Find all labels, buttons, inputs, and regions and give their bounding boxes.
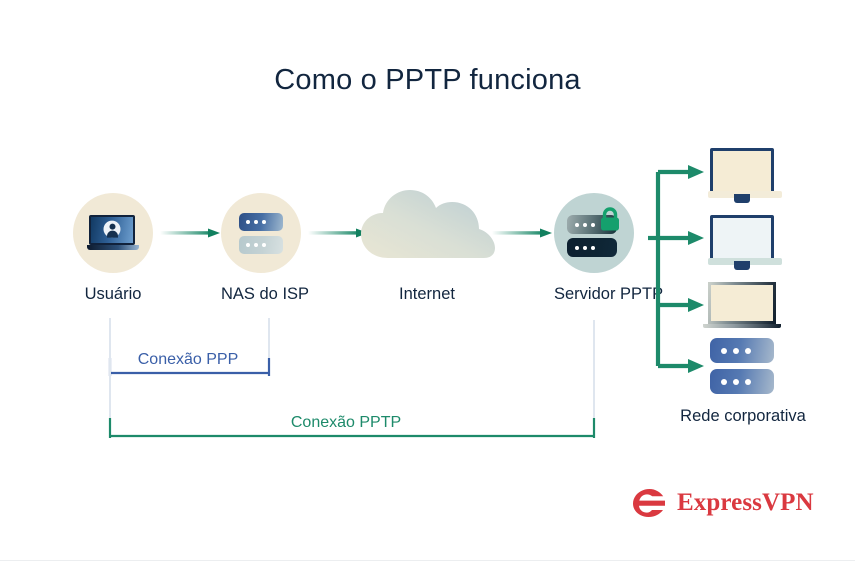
avatar-head xyxy=(109,224,115,230)
expressvpn-wordmark: ExpressVPN xyxy=(677,489,814,517)
secure-server-icon xyxy=(567,215,617,259)
monitor-stand xyxy=(734,261,750,270)
server-bar-top xyxy=(710,338,774,363)
flow-node-label-user: Usuário xyxy=(73,285,153,304)
server-bar-bottom xyxy=(567,238,617,257)
arrow-right-icon-1 xyxy=(160,228,222,238)
server-led-dots xyxy=(721,348,751,354)
laptop-user-icon xyxy=(87,215,139,253)
server-bar-bottom xyxy=(239,236,283,254)
pptp-connection-bracket xyxy=(104,320,600,442)
server-led-dots xyxy=(575,223,595,227)
monitor-icon xyxy=(710,215,774,262)
laptop-icon xyxy=(708,282,776,328)
corporate-network-label: Rede corporativa xyxy=(630,407,855,426)
flow-node-user: Usuário xyxy=(73,193,153,304)
flow-node-label-nas: NAS do ISP xyxy=(221,285,301,304)
flow-node-nas: NAS do ISP xyxy=(221,193,301,304)
server-led-dots xyxy=(721,379,751,385)
flow-node-label-pptp-server: Servidor PPTP xyxy=(554,285,634,304)
server-bar-top xyxy=(239,213,283,231)
device-monitor-2 xyxy=(710,215,774,262)
flow-node-pptp-server: Servidor PPTP xyxy=(554,193,634,304)
device-laptop-1 xyxy=(708,282,776,328)
server-led-dots xyxy=(575,246,595,250)
server-icon xyxy=(710,338,774,394)
laptop-base xyxy=(703,324,781,328)
laptop-screen xyxy=(708,282,776,324)
device-server-1 xyxy=(710,338,774,394)
server-led-dots xyxy=(246,220,266,224)
lock-icon xyxy=(599,207,621,233)
avatar-body xyxy=(107,230,118,237)
laptop-base xyxy=(87,245,139,250)
avatar xyxy=(104,221,121,238)
nas-circle-background xyxy=(221,193,301,273)
arrow-right-icon-3 xyxy=(492,228,554,238)
server-icon xyxy=(239,213,283,255)
server-led-dots xyxy=(246,243,266,247)
monitor-icon xyxy=(710,148,774,195)
flow-node-internet: Internet xyxy=(371,273,483,304)
monitor-stand xyxy=(734,194,750,203)
flow-node-label-internet: Internet xyxy=(371,285,483,304)
diagram-canvas: Como o PPTP funciona Usuário xyxy=(0,0,855,561)
pptp-circle-background xyxy=(554,193,634,273)
expressvpn-logo: ExpressVPN xyxy=(630,484,790,522)
device-monitor-1 xyxy=(710,148,774,195)
page-title: Como o PPTP funciona xyxy=(0,64,855,97)
laptop-screen xyxy=(89,215,135,245)
user-circle-background xyxy=(73,193,153,273)
expressvpn-mark-icon xyxy=(630,487,668,519)
server-bar-bottom xyxy=(710,369,774,394)
branch-arrows-icon xyxy=(648,160,706,378)
cloud-icon xyxy=(358,188,498,260)
